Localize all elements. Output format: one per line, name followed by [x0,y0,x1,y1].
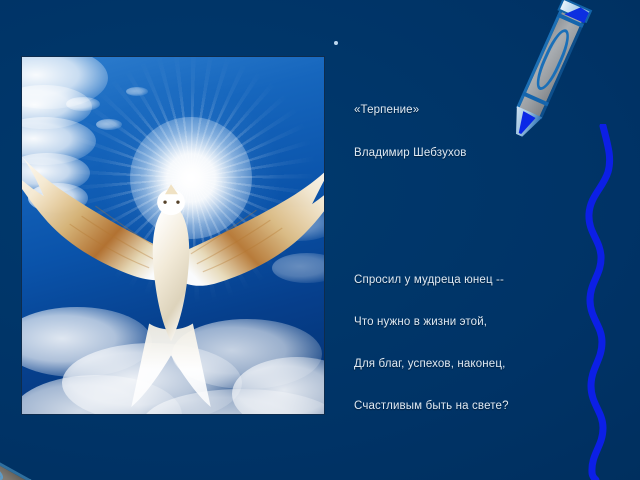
stanza-1: Спросил у мудреца юнец -- Что нужно в жи… [354,244,574,441]
slide-canvas: «Терпение» Владимир Шебзухов Спросил у м… [0,0,640,480]
poem-body: «Терпение» Владимир Шебзухов Спросил у м… [354,33,574,480]
dove-photo[interactable] [21,56,325,415]
dove-eye [176,200,179,203]
poem-author: Владимир Шебзухов [354,146,574,160]
dove-left-wing [22,152,171,280]
poem-title: «Терпение» [354,103,574,117]
dove-illustration [22,57,324,414]
poem-line: Что нужно в жизни этой, [354,315,574,329]
poem-line: Спросил у мудреца юнец -- [354,273,574,287]
blue-squiggle-line [578,124,640,480]
bullet-row: «Терпение» Владимир Шебзухов Спросил у м… [334,33,574,480]
blue-crayon-bottom-left-icon [0,424,54,480]
dove-beak [165,184,178,194]
dove-right-wing [179,160,324,285]
stanza-title: «Терпение» Владимир Шебзухов [354,75,574,188]
poem-line: Для благ, успехов, наконец, [354,357,574,371]
poem-text-column: «Терпение» Владимир Шебзухов Спросил у м… [334,33,574,480]
dove-body [153,202,190,341]
dove-eye [163,200,166,203]
bullet-point-icon [334,41,338,45]
poem-line: Счастливым быть на свете? [354,399,574,413]
